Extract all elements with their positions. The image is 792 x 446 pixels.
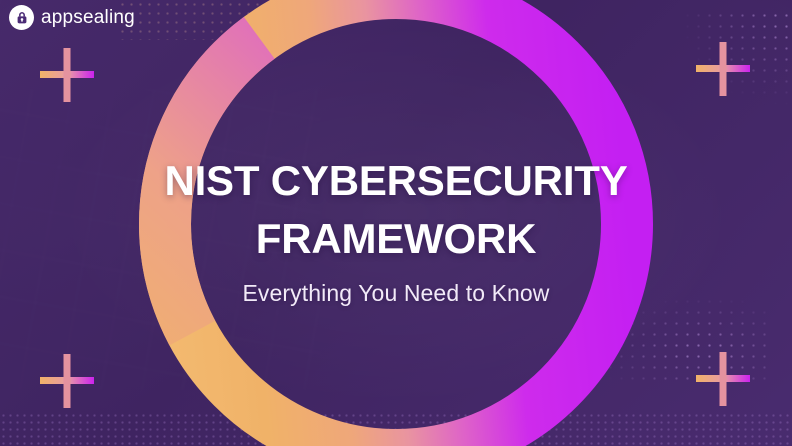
page-title-line-2: FRAMEWORK (0, 210, 792, 268)
plus-bottom-left (36, 350, 98, 412)
hero-banner: appsealing (0, 0, 792, 446)
plus-bottom-right (692, 348, 754, 410)
plus-top-right (692, 38, 754, 100)
page-title: NIST CYBERSECURITY FRAMEWORK (0, 152, 792, 268)
brand-name: appsealing (41, 8, 135, 27)
hero-text-block: NIST CYBERSECURITY FRAMEWORK Everything … (0, 152, 792, 307)
brand-logo[interactable]: appsealing (9, 5, 135, 30)
page-title-line-1: NIST CYBERSECURITY (164, 157, 627, 204)
padlock-icon (9, 5, 34, 30)
page-subtitle: Everything You Need to Know (0, 280, 792, 307)
plus-top-left (36, 44, 98, 106)
